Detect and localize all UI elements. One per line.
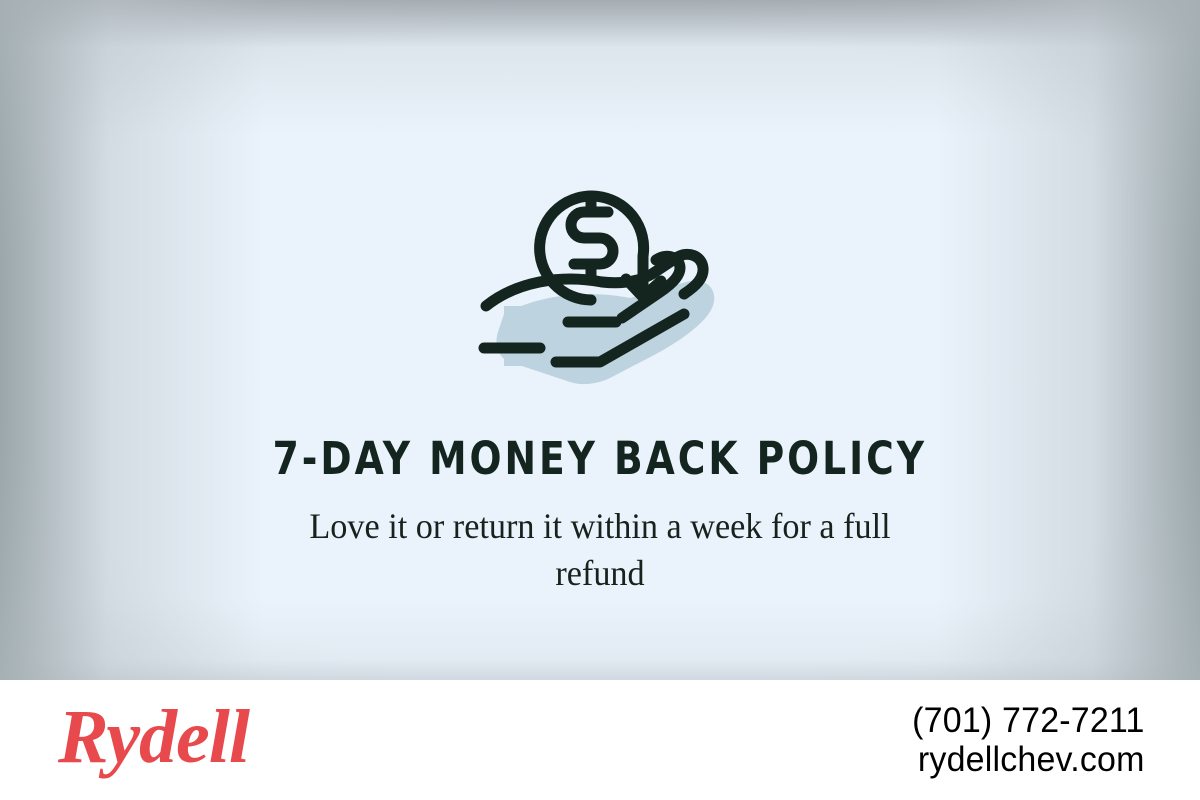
footer-bar: Rydell (701) 772-7211 rydellchev.com: [0, 680, 1200, 800]
phone-number[interactable]: (701) 772-7211: [913, 701, 1145, 740]
page-subtitle: Love it or return it within a week for a…: [268, 503, 933, 597]
hand-holding-money-back-icon: [470, 148, 730, 388]
rydell-logo[interactable]: Rydell: [58, 699, 249, 781]
page-title: 7-DAY MONEY BACK POLICY: [273, 436, 927, 481]
hero-panel: 7-DAY MONEY BACK POLICY Love it or retur…: [0, 0, 1200, 680]
contact-block: (701) 772-7211 rydellchev.com: [905, 701, 1145, 779]
website-url[interactable]: rydellchev.com: [913, 740, 1145, 779]
dollar-sign-icon: [571, 202, 613, 275]
promo-banner: 7-DAY MONEY BACK POLICY Love it or retur…: [0, 0, 1200, 800]
